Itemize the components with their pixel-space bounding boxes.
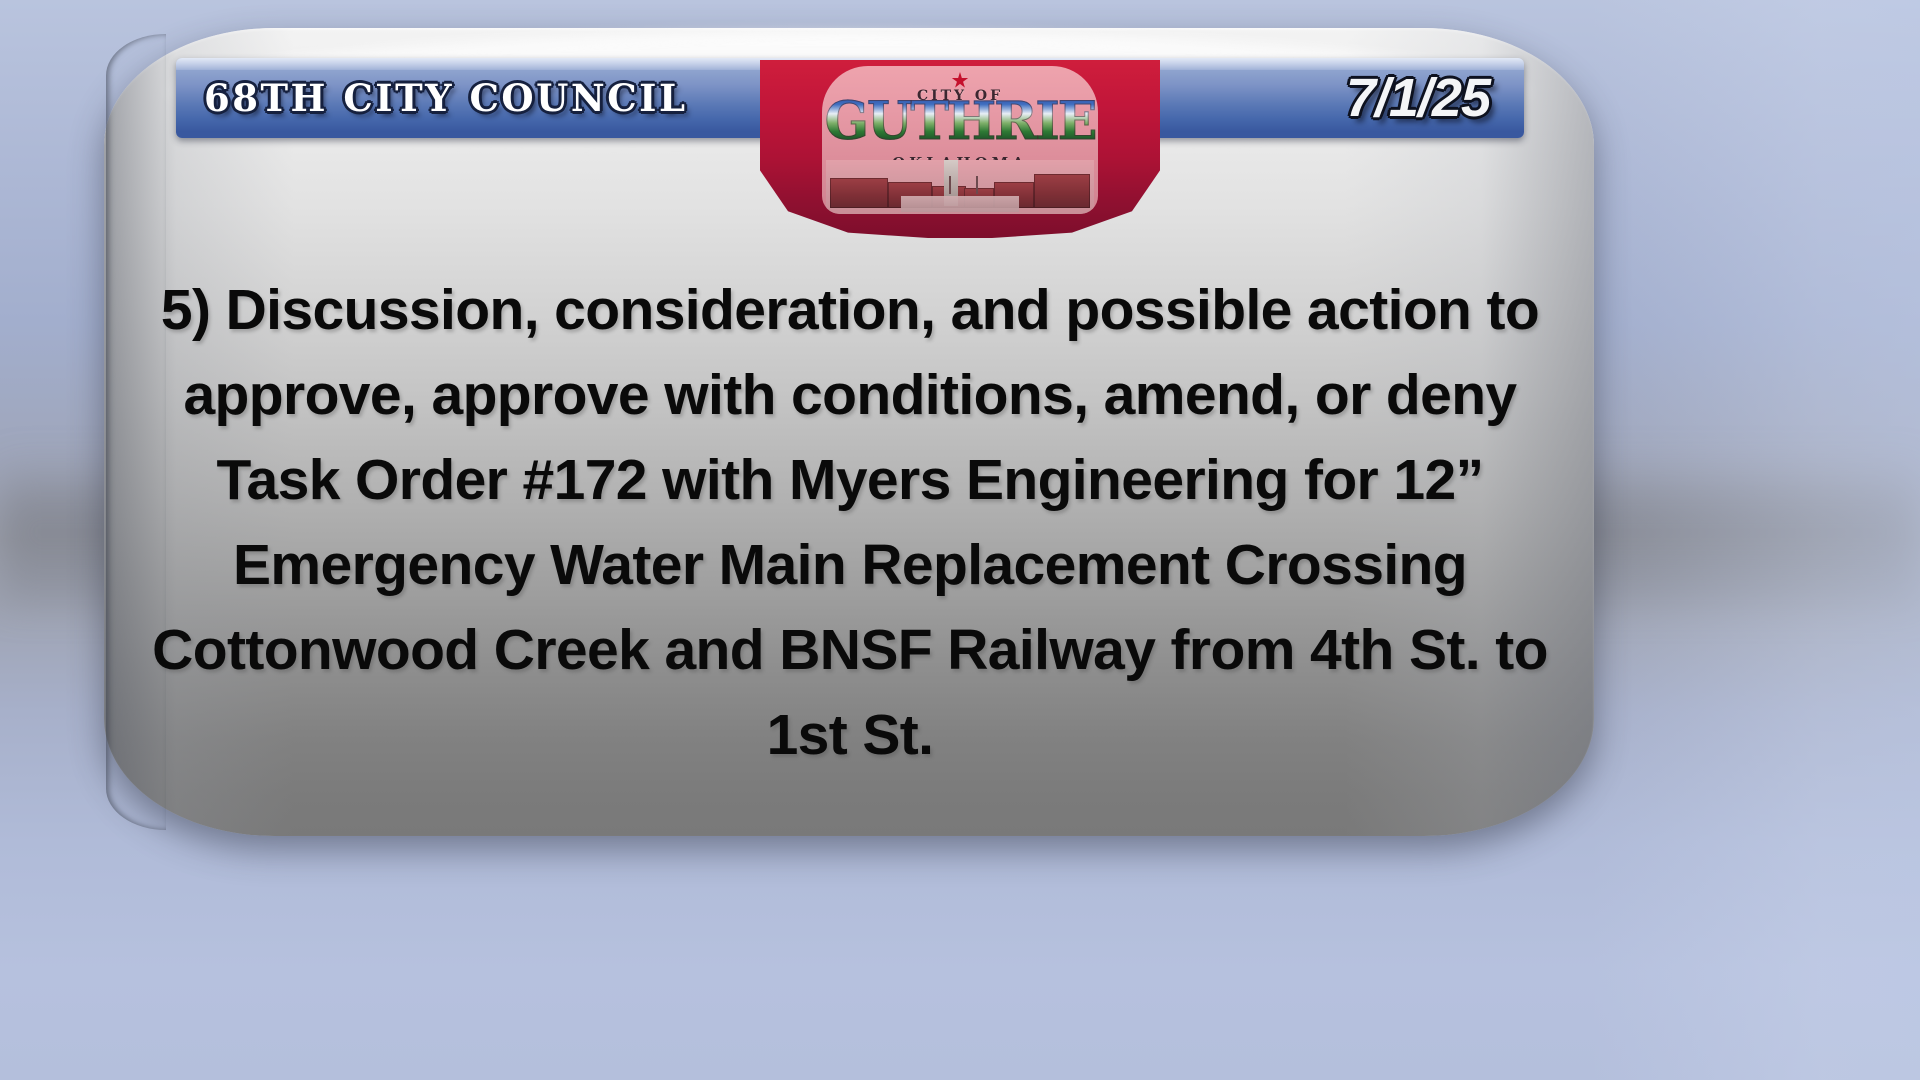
logo-inner-plate: CITY OF GUTHRIE OKLAHOMA — [822, 66, 1098, 214]
star-icon — [952, 72, 969, 89]
agenda-item-text: 5) Discussion, consideration, and possib… — [150, 268, 1550, 778]
slide-stage: 68TH CITY COUNCIL 7/1/25 CITY OF GUTHRIE… — [0, 0, 1920, 1080]
logo-streetscape-photo — [826, 160, 1094, 214]
city-logo: CITY OF GUTHRIE OKLAHOMA — [760, 60, 1160, 238]
background-light-sweep — [1590, 0, 1920, 1080]
meeting-date: 7/1/25 — [1346, 67, 1490, 129]
council-title: 68TH CITY COUNCIL — [204, 76, 687, 120]
logo-city-name: GUTHRIE — [822, 96, 1098, 148]
street-road — [901, 196, 1019, 212]
